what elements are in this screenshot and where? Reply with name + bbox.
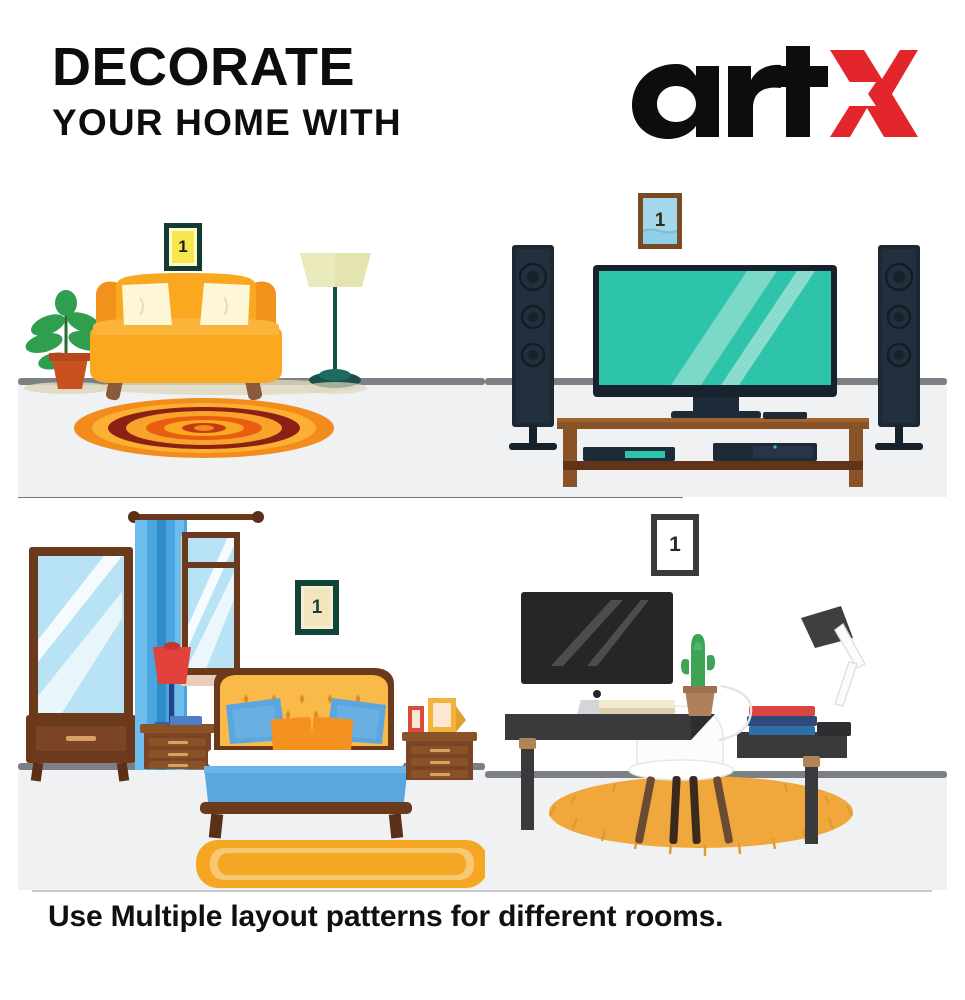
monitor-dot	[593, 690, 601, 698]
home-office-illustration	[485, 500, 947, 890]
tv-neck	[693, 397, 739, 411]
logo-letter-a	[632, 64, 719, 139]
frame-number-bedroom: 1	[295, 580, 339, 635]
brand-logo	[618, 42, 918, 142]
oval-rug	[74, 398, 334, 458]
headline-primary: DECORATE	[52, 40, 402, 94]
logo-artx-svg	[618, 42, 918, 142]
cactus-pot	[685, 690, 715, 716]
sofa-pillow-right	[200, 283, 250, 325]
bedroom-illustration	[18, 500, 485, 890]
soundbar	[763, 412, 807, 419]
scene-tv-room: 1	[485, 175, 947, 497]
bed-base	[200, 802, 412, 814]
mattress	[208, 750, 404, 766]
side-table-leg-joint	[803, 756, 820, 767]
lamp-shade	[153, 647, 191, 684]
tv-room-illustration	[485, 175, 947, 497]
bed-leg-right	[389, 813, 403, 838]
headline-secondary: YOUR HOME WITH	[52, 100, 402, 146]
lamp-pole	[333, 287, 337, 377]
scene-living-room: 1	[18, 175, 485, 497]
caption-text: Use Multiple layout patterns for differe…	[48, 900, 928, 934]
desk-leg-left	[521, 740, 534, 830]
living-room-illustration	[18, 175, 485, 497]
headline-block: DECORATE YOUR HOME WITH	[52, 40, 402, 146]
divider-horizontal	[18, 497, 683, 498]
tower-speaker-right	[875, 245, 923, 450]
book-on-nightstand	[170, 716, 202, 725]
device-on-table	[817, 722, 851, 736]
standing-mirror	[26, 547, 136, 782]
scene-bedroom: 1	[18, 500, 485, 890]
frame-number-office: 1	[651, 514, 699, 576]
scene-grid: 1	[0, 175, 965, 890]
desk-top	[505, 714, 691, 740]
tv-base	[671, 411, 761, 419]
side-table-leg	[805, 758, 818, 844]
logo-letter-t	[775, 46, 828, 137]
frame-number-living-room: 1	[164, 223, 202, 271]
monitor-screen	[521, 592, 673, 684]
tower-speaker-left	[509, 245, 557, 450]
console-leg-right	[849, 429, 863, 487]
bed	[200, 668, 412, 839]
plant-pot	[52, 358, 88, 389]
header: DECORATE YOUR HOME WITH	[0, 0, 965, 175]
book-stack	[747, 706, 817, 735]
cushion-orange-right	[311, 717, 353, 756]
bottom-divider-rule	[32, 890, 932, 892]
television	[593, 265, 837, 419]
sofa-pillow-left	[122, 283, 172, 325]
scene-home-office: 1	[485, 500, 947, 890]
desk-leg-joint-left	[519, 738, 536, 749]
logo-letter-x	[830, 50, 918, 137]
window	[181, 532, 240, 686]
bed-leg-left	[209, 813, 223, 838]
frame-number-tv-room: 1	[638, 193, 682, 249]
cushion-orange-left	[271, 717, 313, 756]
console-leg-left	[563, 429, 577, 487]
logo-letter-r	[728, 65, 781, 137]
poster-canvas: DECORATE YOUR HOME WITH	[0, 0, 965, 1000]
console-shelf	[563, 461, 863, 470]
area-rug	[196, 840, 485, 888]
